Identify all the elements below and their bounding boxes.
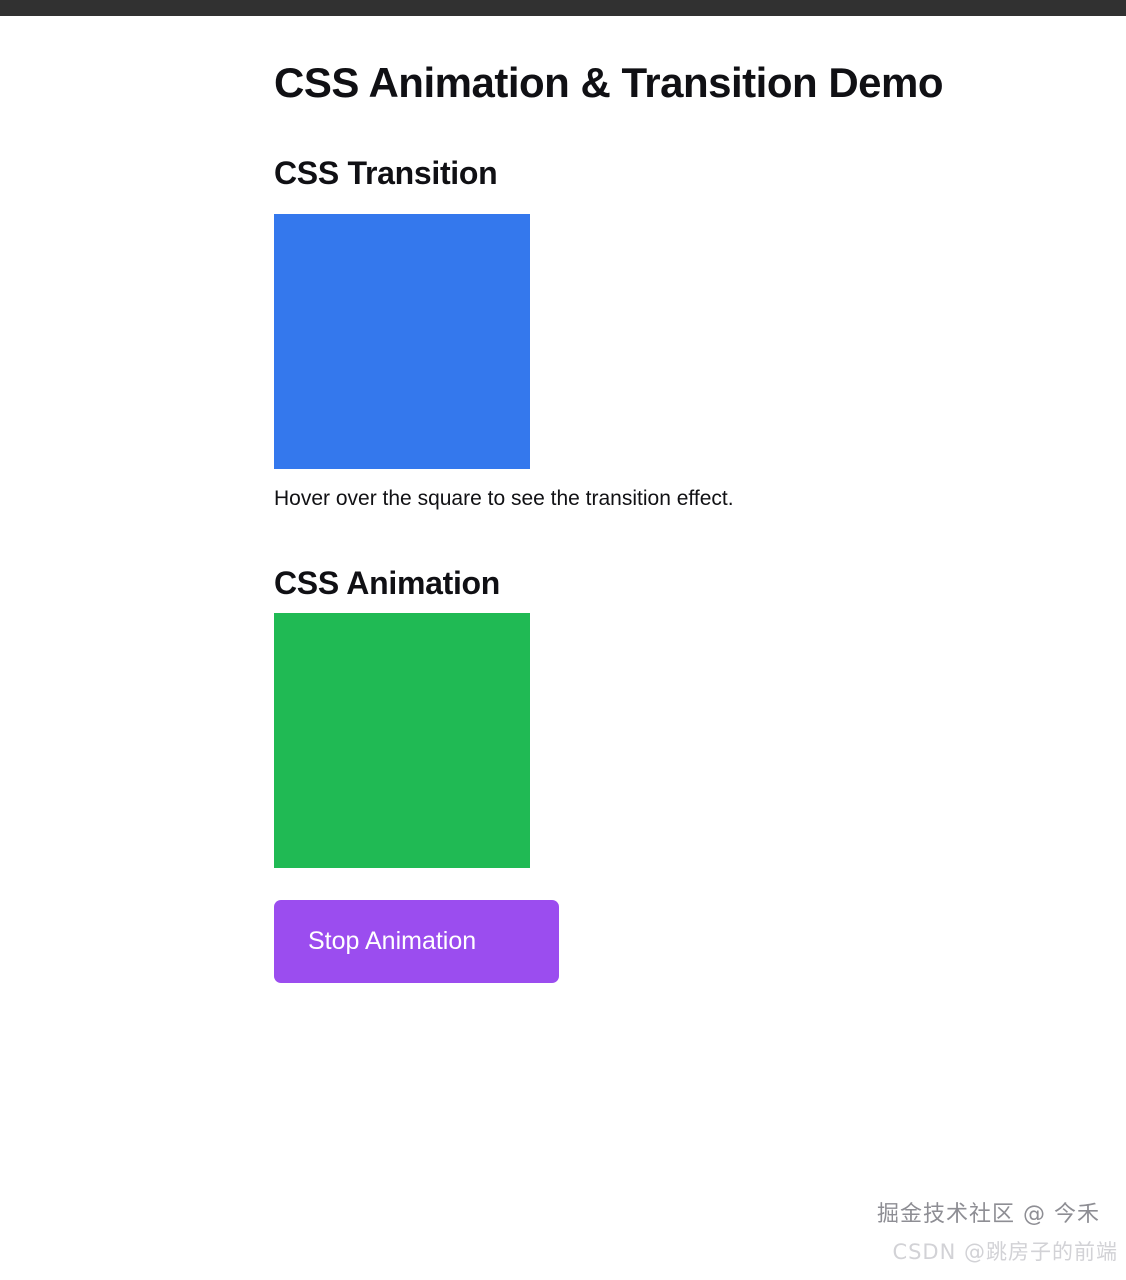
watermark-secondary: CSDN @跳房子的前端 xyxy=(892,1236,1118,1266)
page-root: CSS Animation & Transition Demo CSS Tran… xyxy=(0,0,1126,1280)
section-heading-transition: CSS Transition xyxy=(274,154,1074,192)
main-content: CSS Animation & Transition Demo CSS Tran… xyxy=(274,16,1074,983)
transition-demo-box[interactable] xyxy=(274,214,530,469)
animation-demo-box[interactable] xyxy=(274,613,530,868)
section-css-transition: CSS Transition Hover over the square to … xyxy=(274,154,1074,513)
transition-helper-text: Hover over the square to see the transit… xyxy=(274,485,1074,513)
page-title: CSS Animation & Transition Demo xyxy=(274,59,1074,107)
watermark-primary: 掘金技术社区 @ 今禾 xyxy=(877,1196,1100,1228)
browser-chrome-bar xyxy=(0,0,1126,16)
section-heading-animation: CSS Animation xyxy=(274,564,1074,602)
stop-animation-button[interactable]: Stop Animation xyxy=(274,900,559,983)
section-css-animation: CSS Animation Stop Animation xyxy=(274,564,1074,983)
